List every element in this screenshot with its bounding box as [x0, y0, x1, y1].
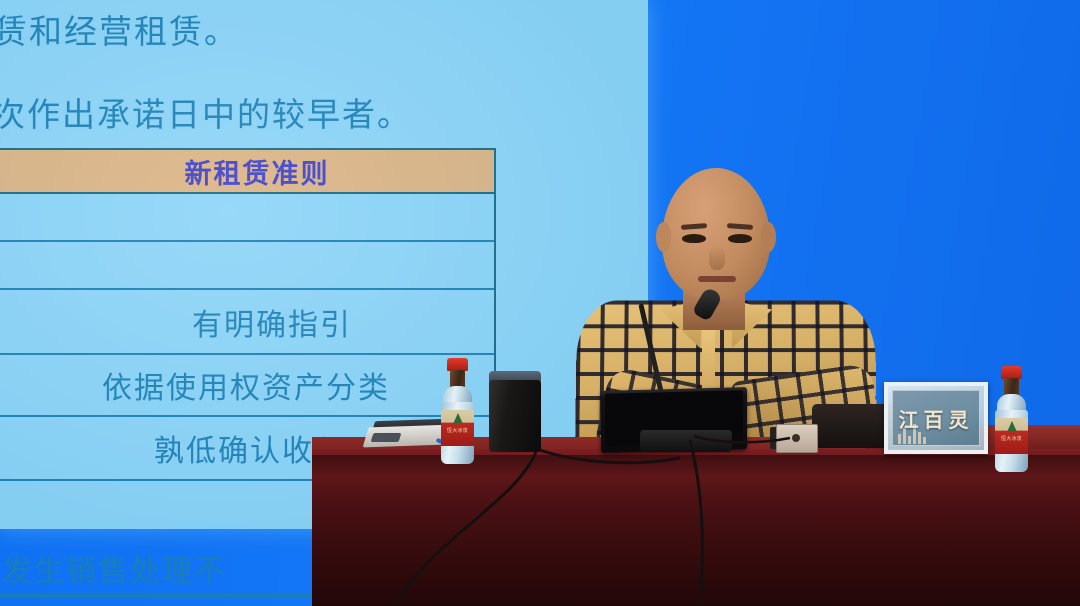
slide-table-cell: 间 [0, 195, 2, 239]
bottle-label-text: 恒大冰泉 [995, 436, 1028, 442]
presentation-scene: 赁和经营租赁。 次作出承诺日中的较早者。 新租赁准则 间 间 有明确指引 依据使… [0, 0, 1080, 606]
ear-right [761, 222, 776, 252]
slide-table-row: 间 [0, 194, 494, 242]
nose [709, 246, 725, 270]
bottle-label: 恒大冰泉 [995, 418, 1028, 454]
desk-shadow [312, 455, 1080, 477]
phone-device [371, 433, 402, 442]
slide-table-cell: 否发生销售处理不 [0, 546, 226, 590]
device-knob [792, 434, 800, 442]
slide-text-line-2: 次作出承诺日中的较早者。 [0, 88, 412, 136]
audio-recorder-device[interactable] [776, 424, 818, 453]
bottle-label-text: 恒大冰泉 [441, 428, 474, 434]
microphone-base [640, 430, 732, 452]
slide-text-line-1: 赁和经营租赁。 [0, 5, 239, 53]
bottle-label: 恒大冰泉 [441, 410, 474, 446]
slide-table-row: 间 [0, 242, 494, 290]
name-plate: 江百灵 [884, 382, 988, 454]
ear-left [656, 222, 671, 252]
pine-tree-icon [1007, 421, 1017, 432]
speaker-box [489, 380, 541, 452]
slide-table-row: 有明确指引 [0, 290, 494, 355]
eye-right [728, 234, 752, 243]
slide-table-header: 新租赁准则 [0, 150, 494, 194]
slide-table-row: 依据使用权资产分类 [0, 355, 494, 417]
name-plate-text: 江百灵 [899, 404, 974, 433]
water-bottle-right: 恒大冰泉 [992, 366, 1032, 474]
pine-tree-icon [453, 413, 463, 424]
water-bottle-left: 恒大冰泉 [438, 358, 478, 466]
eye-left [682, 234, 706, 243]
mouth [698, 276, 736, 282]
slide-table-cell: 间 [0, 243, 2, 287]
